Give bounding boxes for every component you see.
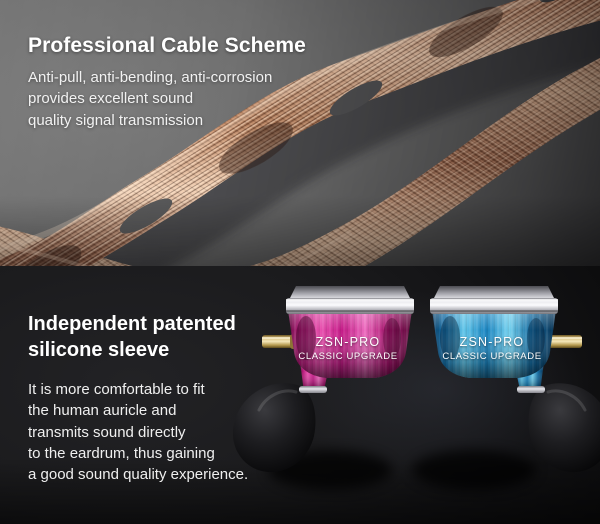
sleeve-text-block: Independent patented silicone sleeve It …: [28, 312, 278, 486]
earphone-right-blue: [430, 286, 600, 472]
panel-cable-scheme: Professional Cable Scheme Anti-pull, ant…: [0, 0, 600, 266]
cable-heading: Professional Cable Scheme: [28, 34, 328, 58]
cable-body-line-3: quality signal transmission: [28, 110, 328, 131]
sleeve-body: It is more comfortable to fit the human …: [28, 379, 278, 485]
sleeve-body-line-2: the human auricle and: [28, 400, 278, 421]
sleeve-body-line-3: transmits sound directly: [28, 422, 278, 443]
cable-body-line-2: provides excellent sound: [28, 88, 328, 109]
sleeve-heading: Independent patented silicone sleeve: [28, 312, 278, 363]
ear-tip-right: [529, 383, 600, 472]
shell-left: [288, 310, 412, 378]
cable-body: Anti-pull, anti-bending, anti-corrosion …: [28, 67, 328, 131]
product-banner: Professional Cable Scheme Anti-pull, ant…: [0, 0, 600, 524]
sleeve-heading-line-1: Independent patented: [28, 312, 278, 338]
sleeve-body-line-5: a good sound quality experience.: [28, 464, 278, 485]
sleeve-body-line-4: to the eardrum, thus gaining: [28, 443, 278, 464]
cable-text-block: Professional Cable Scheme Anti-pull, ant…: [28, 34, 328, 131]
faceplate-left: [286, 286, 414, 314]
cable-body-line-1: Anti-pull, anti-bending, anti-corrosion: [28, 67, 328, 88]
shell-right: [432, 310, 556, 378]
sleeve-body-line-1: It is more comfortable to fit: [28, 379, 278, 400]
panel-floor-shadow: [0, 196, 600, 266]
earphone-shadows: [268, 450, 536, 490]
sleeve-heading-line-2: silicone sleeve: [28, 338, 278, 364]
panel-silicone-sleeve: Independent patented silicone sleeve It …: [0, 266, 600, 524]
faceplate-right: [430, 286, 558, 314]
